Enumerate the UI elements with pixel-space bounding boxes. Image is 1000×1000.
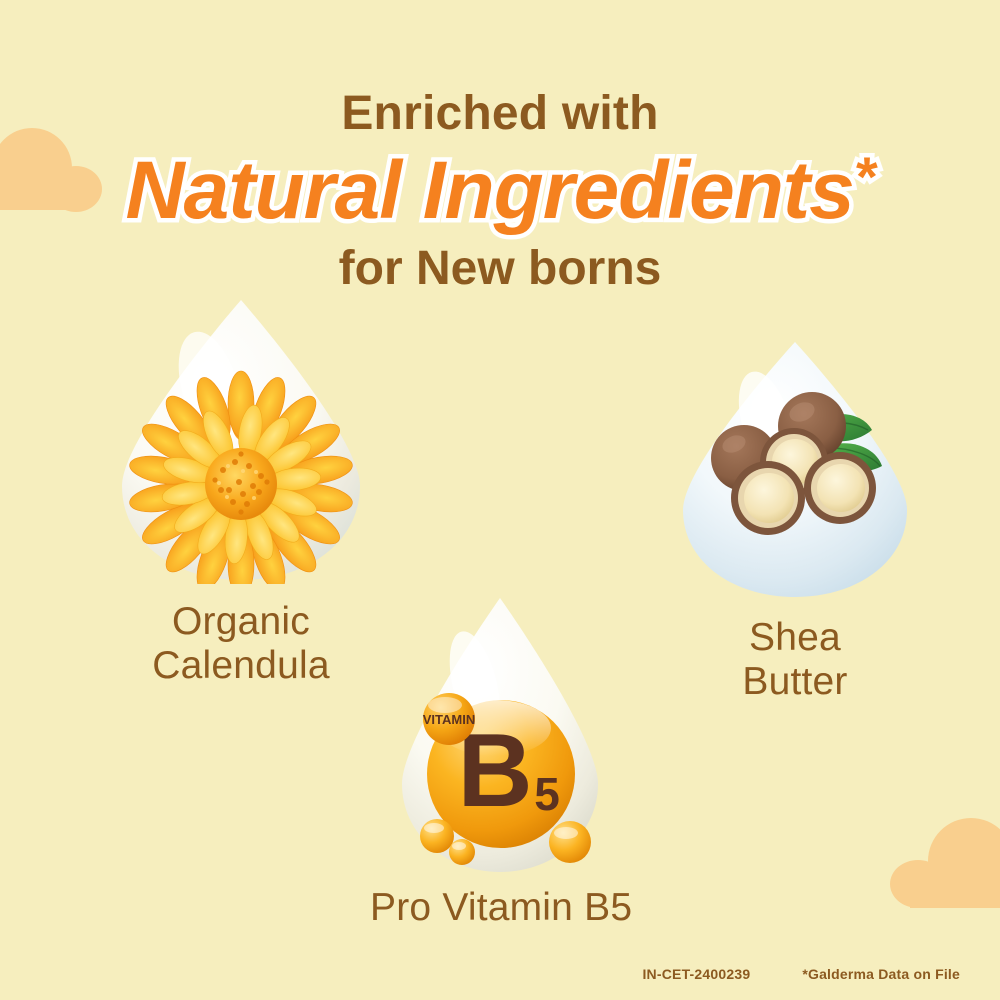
droplet-calendula — [114, 296, 368, 584]
label-b5: Pro Vitamin B5 — [370, 886, 630, 930]
label-shea-line1: Shea — [650, 616, 940, 660]
droplet-shea — [676, 338, 914, 600]
label-shea-line2: Butter — [650, 660, 940, 704]
headline-line-2-text: Natural Ingredients — [125, 145, 853, 236]
ingredient-b5: B 5 VITAMIN Pro Vitamin B5 — [370, 594, 630, 930]
label-calendula-line1: Organic — [96, 600, 386, 644]
footer-code: IN-CET-2400239 — [642, 966, 750, 982]
headline-line-2: Natural Ingredients* — [0, 145, 1000, 237]
calendula-flower-icon — [114, 296, 368, 584]
headline-block: Enriched with Natural Ingredients* for N… — [0, 88, 1000, 295]
ingredient-calendula: Organic Calendula — [96, 296, 386, 687]
poster-canvas: Enriched with Natural Ingredients* for N… — [0, 0, 1000, 1000]
vitamin-b5-sphere-icon: B 5 VITAMIN — [395, 594, 605, 876]
label-shea: Shea Butter — [650, 616, 940, 703]
label-b5-line1: Pro Vitamin B5 — [370, 886, 630, 930]
b5-subscript: 5 — [534, 768, 560, 820]
label-calendula: Organic Calendula — [96, 600, 386, 687]
cloud-bottom-right-icon — [890, 818, 1000, 902]
label-calendula-line2: Calendula — [96, 644, 386, 688]
headline-asterisk: * — [854, 145, 875, 208]
ingredient-shea: Shea Butter — [650, 338, 940, 703]
shea-nuts-icon — [676, 338, 914, 600]
headline-line-3: for New borns — [0, 243, 1000, 296]
footer-disclaimer: *Galderma Data on File — [802, 966, 960, 982]
droplet-b5: B 5 VITAMIN — [395, 594, 605, 876]
headline-line-1: Enriched with — [0, 88, 1000, 141]
vitamin-badge-label: VITAMIN — [423, 712, 475, 727]
footer: IN-CET-2400239 *Galderma Data on File — [0, 966, 1000, 982]
